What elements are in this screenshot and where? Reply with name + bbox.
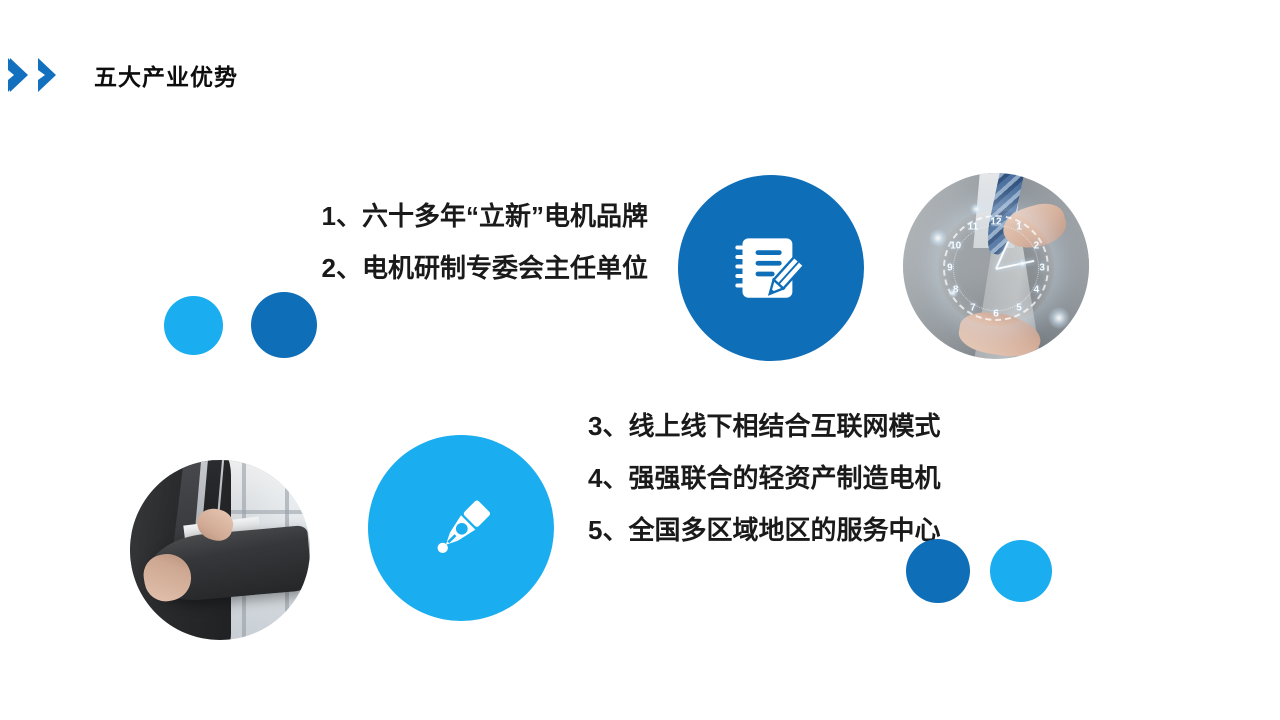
list-item: 3、线上线下相结合互联网模式: [588, 400, 988, 452]
accent-dot-dark-left: [251, 292, 317, 358]
double-chevron-right-icon: [8, 56, 72, 94]
accent-dot-light-left: [164, 296, 223, 355]
icon-circle-pen-nib: [368, 435, 554, 621]
businessman-holding-clock-photo: 12 1 2 3 4 5 6 7 8 9 10 11: [903, 173, 1089, 359]
list-item: 2、电机研制专委会主任单位: [258, 242, 648, 294]
accent-dot-light-right: [990, 540, 1052, 602]
businessman-holding-folder-photo: [130, 460, 310, 640]
advantage-list-top: 1、六十多年“立新”电机品牌 2、电机研制专委会主任单位: [258, 190, 648, 294]
advantage-list-bottom: 3、线上线下相结合互联网模式 4、强强联合的轻资产制造电机 5、全国多区域地区的…: [588, 400, 988, 556]
list-item: 4、强强联合的轻资产制造电机: [588, 452, 988, 504]
accent-dot-dark-right: [906, 539, 970, 603]
pen-nib-icon: [368, 435, 554, 621]
list-item: 1、六十多年“立新”电机品牌: [258, 190, 648, 242]
page-title: 五大产业优势: [94, 58, 238, 92]
slide-header: 五大产业优势: [0, 52, 238, 98]
notebook-pencil-icon: [678, 175, 864, 361]
slide-canvas: 五大产业优势 1、六十多年“立新”电机品牌 2、电机研制专委会主任单位 3、线上…: [0, 0, 1280, 720]
icon-circle-notebook: [678, 175, 864, 361]
